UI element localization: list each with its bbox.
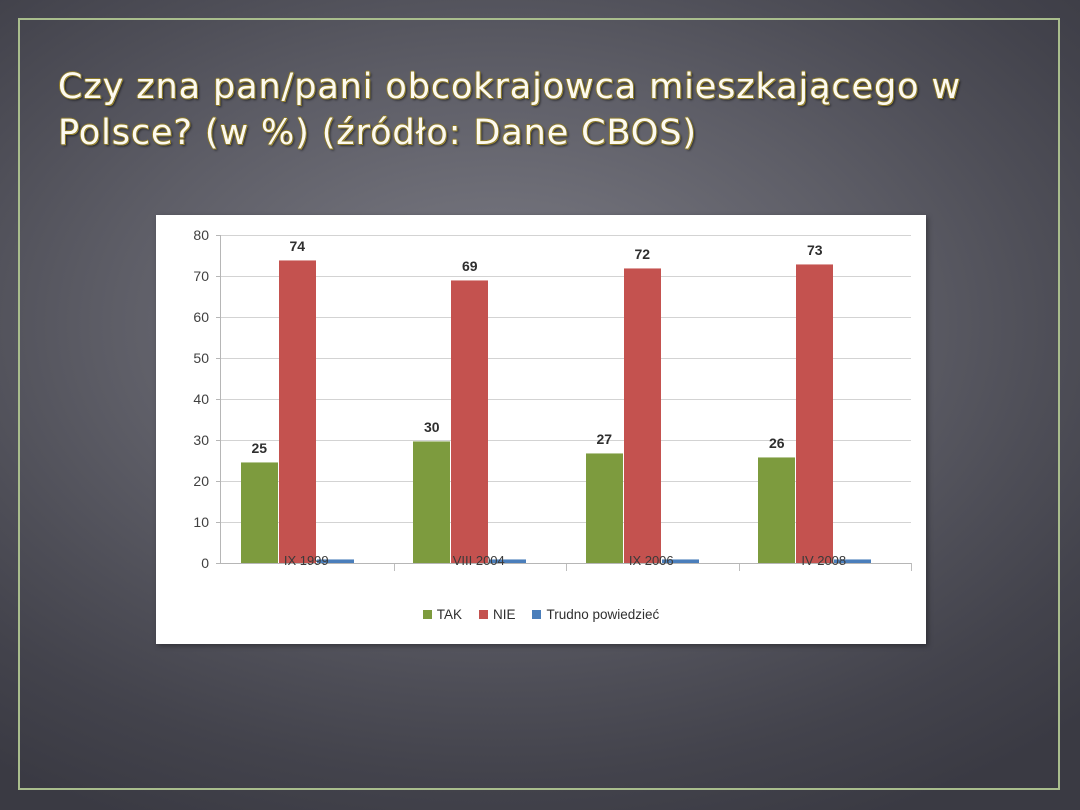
y-tick-label-40: 40 [169, 391, 209, 407]
slide-title: Czy zna pan/pani obcokrajowca mieszkając… [58, 64, 988, 156]
y-tick-label-80: 80 [169, 227, 209, 243]
y-tick-label-10: 10 [169, 514, 209, 530]
x-axis-separator [739, 563, 740, 571]
bar-value-label: 74 [271, 238, 323, 254]
y-tick-label-70: 70 [169, 268, 209, 284]
x-tick-label: IX 2006 [571, 553, 731, 568]
bar[interactable] [624, 268, 661, 563]
y-tick-label-50: 50 [169, 350, 209, 366]
x-tick-label: IV 2008 [744, 553, 904, 568]
bar[interactable] [451, 280, 488, 563]
y-tick-label-20: 20 [169, 473, 209, 489]
legend-swatch-icon [532, 610, 541, 619]
bar-value-label: 25 [233, 440, 285, 456]
bar-value-label: 72 [616, 246, 668, 262]
legend-item[interactable]: NIE [479, 607, 516, 622]
bar[interactable] [796, 264, 833, 563]
bar-group: 2574 [221, 235, 394, 563]
bar[interactable] [586, 453, 623, 563]
bar-value-label: 69 [444, 258, 496, 274]
legend-label: TAK [437, 607, 462, 622]
legend-label: NIE [493, 607, 516, 622]
bar[interactable] [758, 457, 795, 563]
bar-value-label: 27 [578, 431, 630, 447]
x-tick-label: IX 1999 [226, 553, 386, 568]
title-line-1: Czy zna pan/pani obcokrajowca mieszkając… [58, 64, 988, 110]
legend-swatch-icon [423, 610, 432, 619]
title-line-2: Polsce? (w %) (źródło: Dane CBOS) [58, 110, 988, 156]
bar-group: 2772 [566, 235, 739, 563]
bar-group: 2673 [739, 235, 912, 563]
bar-group: 3069 [394, 235, 567, 563]
bar[interactable] [413, 441, 450, 563]
chart-plot-wrapper: 807060504030201002574306927722673 TAKNIE… [156, 215, 926, 644]
chart-panel[interactable]: 807060504030201002574306927722673 TAKNIE… [156, 215, 926, 644]
bar-value-label: 26 [751, 435, 803, 451]
legend-item[interactable]: TAK [423, 607, 462, 622]
bar[interactable] [241, 462, 278, 563]
legend-swatch-icon [479, 610, 488, 619]
chart-legend: TAKNIETrudno powiedzieć [156, 607, 926, 622]
y-tick-label-60: 60 [169, 309, 209, 325]
slide: Czy zna pan/pani obcokrajowca mieszkając… [0, 0, 1080, 810]
bar[interactable] [279, 260, 316, 563]
x-axis-separator [566, 563, 567, 571]
x-axis-separator [911, 563, 912, 571]
x-axis-separator [394, 563, 395, 571]
bar-value-label: 73 [789, 242, 841, 258]
bar-value-label: 30 [406, 419, 458, 435]
y-tick-label-30: 30 [169, 432, 209, 448]
legend-label: Trudno powiedzieć [546, 607, 659, 622]
y-tick-label-0: 0 [169, 555, 209, 571]
chart-plot-area: 807060504030201002574306927722673 [220, 235, 911, 563]
legend-item[interactable]: Trudno powiedzieć [532, 607, 659, 622]
x-tick-label: VIII 2004 [399, 553, 559, 568]
